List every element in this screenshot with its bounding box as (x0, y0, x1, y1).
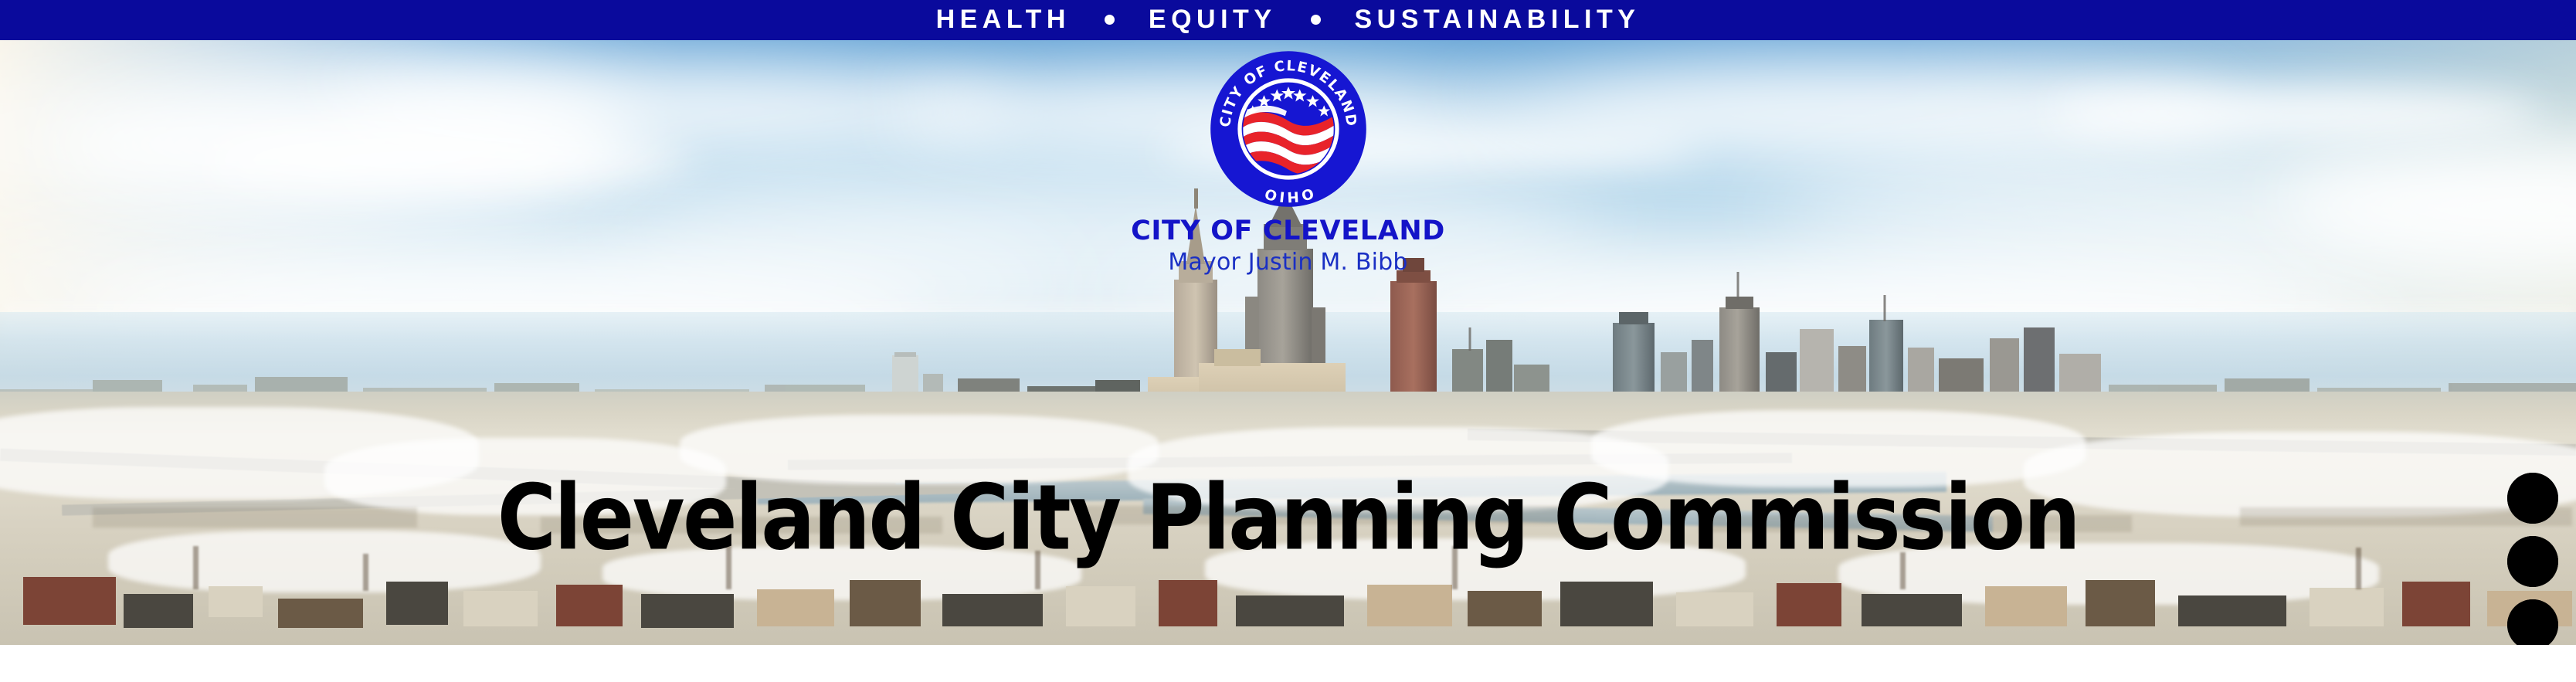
instagram-icon (2507, 536, 2558, 587)
bullet-dot-icon (1311, 15, 1321, 25)
page-title: Cleveland City Planning Commission (0, 473, 2576, 562)
social-link-youtube[interactable] (2507, 473, 2558, 524)
building (463, 591, 538, 626)
bottom-strip (0, 645, 2576, 682)
building (757, 589, 834, 626)
social-link-facebook[interactable] (2507, 599, 2558, 645)
building (942, 594, 1043, 626)
building (641, 594, 734, 628)
building (1985, 586, 2067, 626)
tagline-inner: HEALTH EQUITY SUSTAINABILITY (936, 6, 1641, 32)
building (1066, 586, 1135, 626)
building (278, 599, 363, 628)
building (1468, 591, 1542, 626)
tagline-word-health: HEALTH (936, 6, 1071, 32)
city-seal-link[interactable]: CITY OF CLEVELAND OHIO (1207, 48, 1369, 210)
building (2310, 588, 2384, 626)
social-links (2506, 473, 2559, 645)
building (1777, 583, 1841, 626)
building (850, 580, 921, 626)
building (1862, 594, 1962, 626)
social-link-instagram[interactable] (2507, 536, 2558, 587)
building (1560, 582, 1653, 626)
building (1676, 592, 1753, 626)
building (209, 586, 263, 617)
building (23, 577, 116, 625)
city-of-cleveland-seal-icon: CITY OF CLEVELAND OHIO (1207, 48, 1369, 210)
building (2086, 580, 2155, 626)
hero-photo: CITY OF CLEVELAND OHIO (0, 40, 2576, 645)
building (386, 582, 448, 625)
building (1236, 595, 1344, 626)
tagline-word-sustainability: SUSTAINABILITY (1355, 6, 1641, 32)
tagline-word-equity: EQUITY (1149, 6, 1277, 32)
tagline-bar: HEALTH EQUITY SUSTAINABILITY (0, 0, 2576, 40)
building (1367, 585, 1452, 626)
building (556, 585, 623, 626)
building (124, 594, 193, 628)
facebook-icon (2507, 599, 2558, 645)
youtube-icon (2507, 473, 2558, 524)
building (1159, 580, 1217, 626)
bullet-dot-icon (1105, 15, 1115, 25)
building (2178, 595, 2286, 626)
building (2402, 582, 2470, 626)
page-root: HEALTH EQUITY SUSTAINABILITY (0, 0, 2576, 682)
